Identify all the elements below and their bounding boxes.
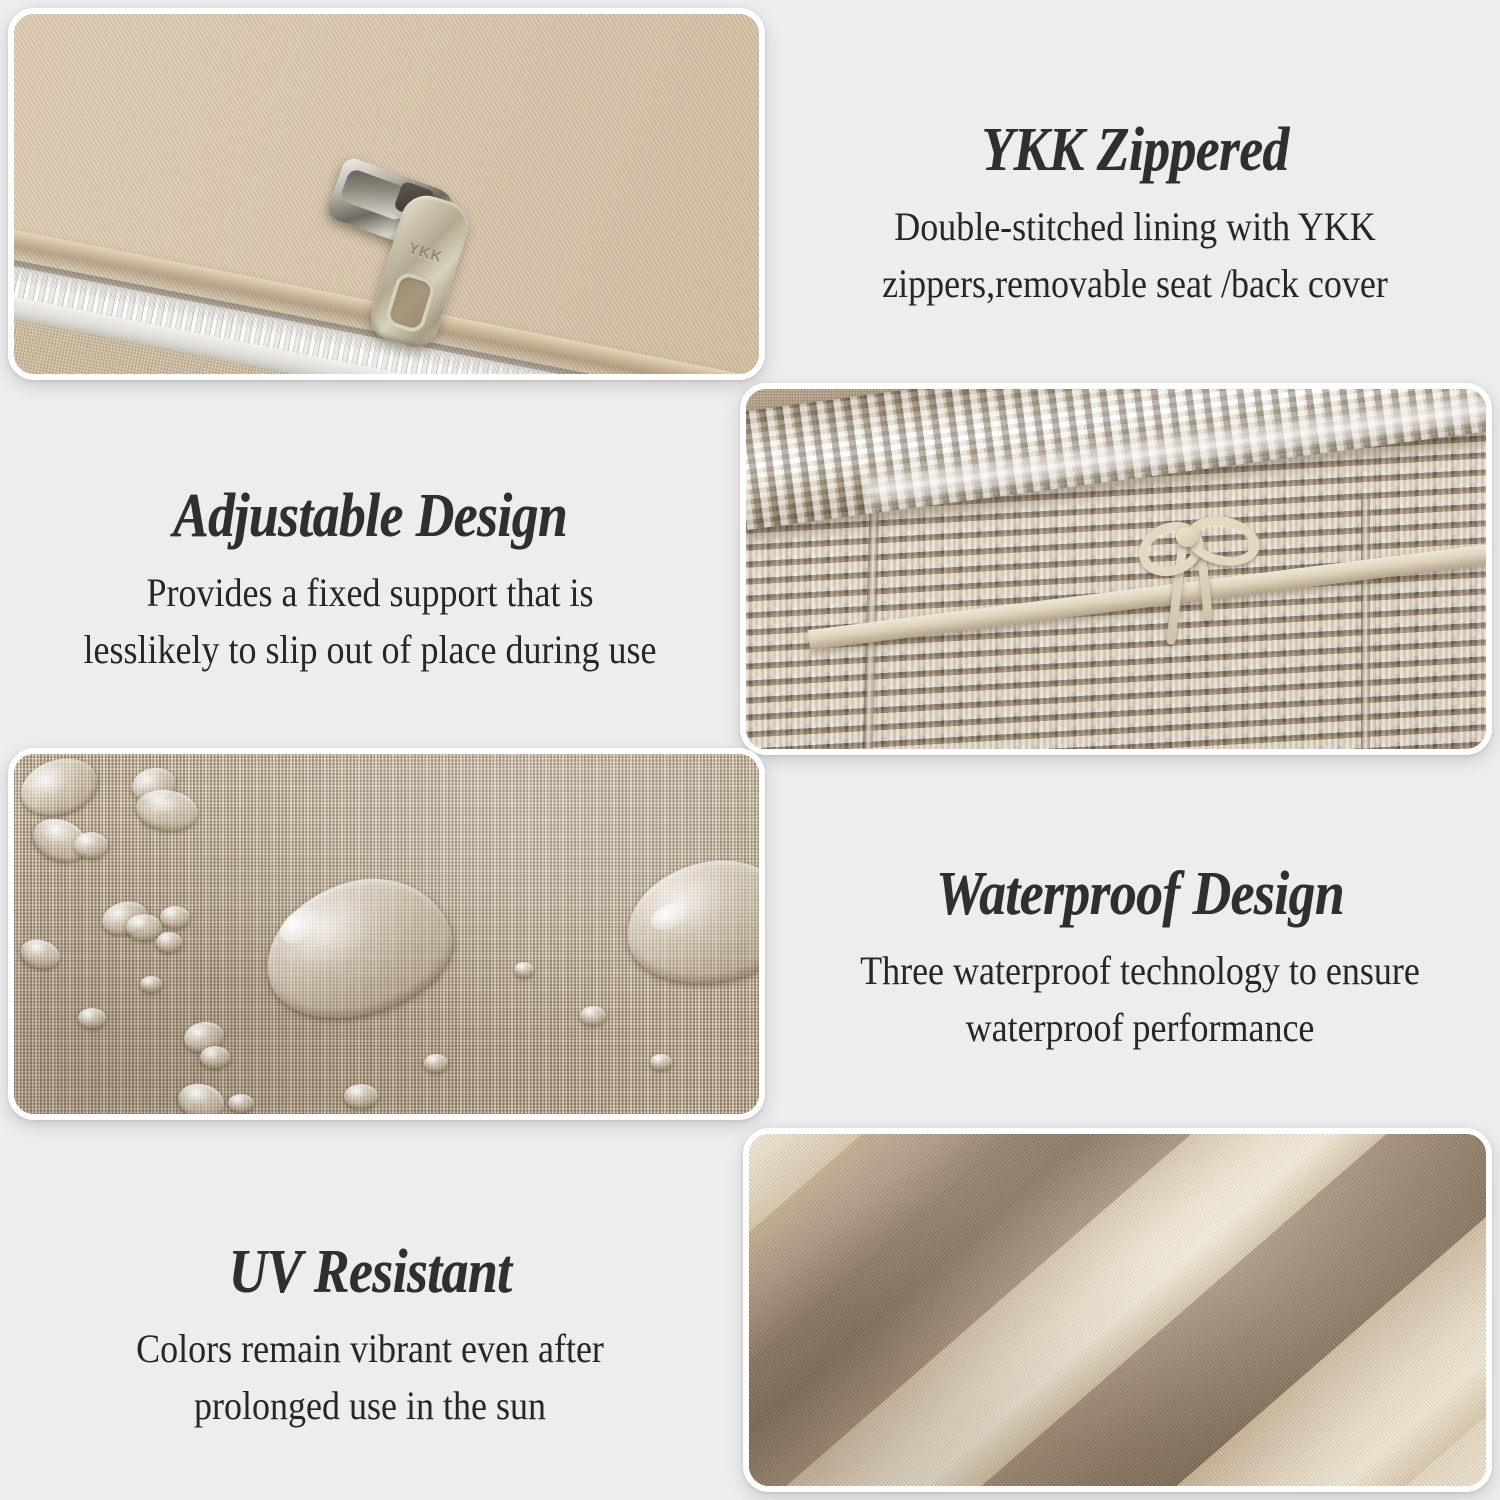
feature-heading: UV Resistant	[69, 1240, 671, 1305]
feature-text-ykk-zippered: YKK Zippered Double-stitched lining with…	[790, 118, 1480, 313]
water-bead	[126, 914, 162, 940]
description-line: Colors remain vibrant even after	[55, 1321, 685, 1378]
description-line: waterproof performance	[830, 1000, 1451, 1057]
feature-description: Provides a fixed support that is lesslik…	[55, 565, 685, 679]
fabric-folds-photo	[743, 1128, 1492, 1492]
feature-text-adjustable-design: Adjustable Design Provides a fixed suppo…	[20, 484, 720, 679]
water-bead	[228, 1094, 254, 1112]
water-droplets-photo	[8, 748, 765, 1120]
water-bead	[344, 1084, 378, 1108]
product-feature-infographic: YKK YKK Zippered Double-stitched lining …	[0, 0, 1500, 1500]
feature-description: Three waterproof technology to ensure wa…	[830, 943, 1451, 1057]
water-bead	[160, 906, 190, 928]
water-bead	[74, 832, 108, 858]
description-line: Three waterproof technology to ensure	[830, 943, 1451, 1000]
water-bead	[78, 1008, 106, 1028]
feature-heading: Adjustable Design	[69, 484, 671, 549]
description-line: Double-stitched lining with YKK	[825, 199, 1446, 256]
feature-heading: Waterproof Design	[843, 862, 1436, 927]
feature-description: Double-stitched lining with YKK zippers,…	[825, 199, 1446, 313]
water-bead	[424, 1054, 448, 1072]
feature-text-waterproof-design: Waterproof Design Three waterproof techn…	[795, 862, 1485, 1057]
water-bead	[156, 932, 182, 952]
water-bead	[514, 962, 534, 977]
fabric-tie-bow-icon	[1138, 509, 1264, 659]
zipper-photo: YKK	[8, 8, 765, 380]
wicker-seam	[1361, 499, 1370, 749]
description-line: Provides a fixed support that is	[55, 565, 685, 622]
description-line: prolonged use in the sun	[55, 1378, 685, 1435]
water-bead	[200, 1046, 230, 1068]
feature-description: Colors remain vibrant even after prolong…	[55, 1321, 685, 1435]
feature-heading: YKK Zippered	[838, 118, 1431, 183]
water-bead	[650, 1054, 672, 1070]
description-line: lesslikely to slip out of place during u…	[55, 622, 685, 679]
description-line: zippers,removable seat /back cover	[825, 256, 1446, 313]
wicker-photo	[740, 383, 1492, 755]
feature-text-uv-resistant: UV Resistant Colors remain vibrant even …	[20, 1240, 720, 1435]
water-bead	[140, 976, 162, 992]
water-bead	[580, 1006, 606, 1025]
